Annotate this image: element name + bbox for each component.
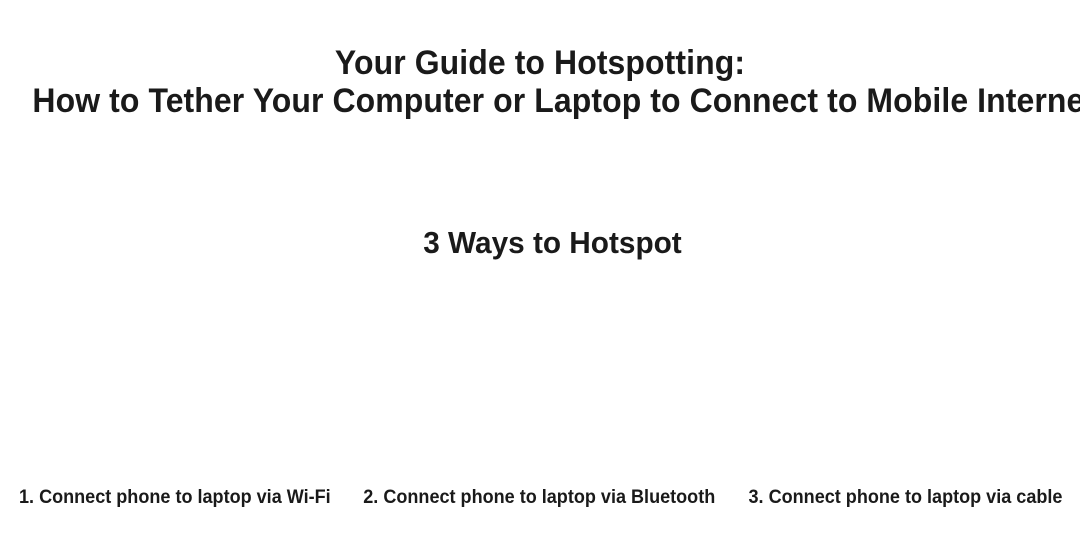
step-illustration-bluetooth [370, 300, 710, 480]
step-illustration-cable [740, 300, 1080, 480]
section-heading: 3 Ways to Hotspot [22, 222, 1059, 264]
step-illustrations [0, 290, 1080, 480]
page-title-line-1: Your Guide to Hotspotting: [32, 44, 1047, 82]
section-heading-text: 3 Ways to Hotspot [423, 222, 681, 264]
page-title: Your Guide to Hotspotting: How to Tether… [0, 44, 1080, 120]
step-caption-wifi: 1. Connect phone to laptop via Wi-Fi [19, 486, 331, 510]
page-title-line-2: How to Tether Your Computer or Laptop to… [32, 82, 1047, 120]
step-caption-bluetooth: 2. Connect phone to laptop via Bluetooth [363, 486, 715, 510]
step-captions: 1. Connect phone to laptop via Wi-Fi 2. … [0, 486, 1080, 512]
step-caption-cable: 3. Connect phone to laptop via cable [748, 486, 1062, 510]
step-illustration-wifi [0, 300, 340, 480]
infographic-page: Your Guide to Hotspotting: How to Tether… [0, 0, 1080, 552]
